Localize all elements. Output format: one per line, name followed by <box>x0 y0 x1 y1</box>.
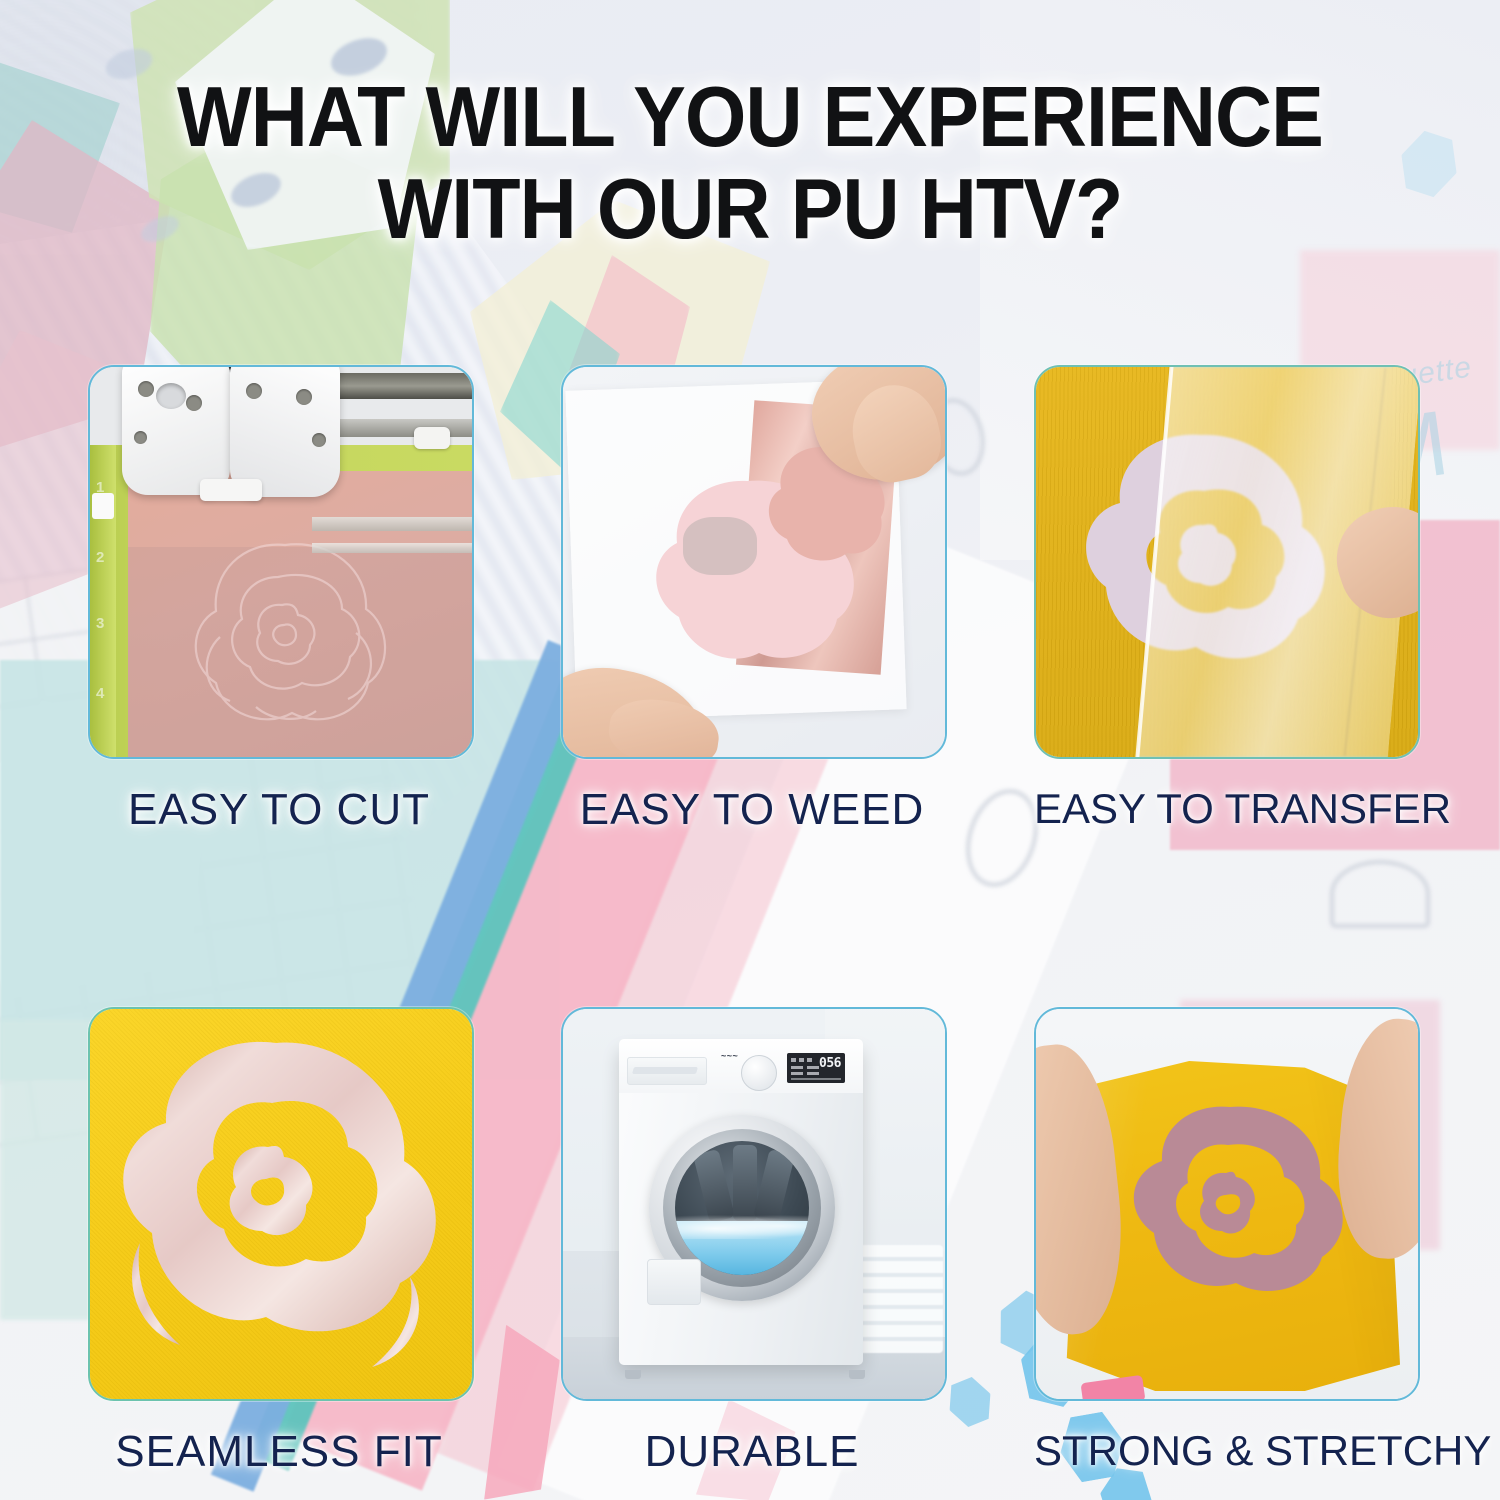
feature-grid: 1 2 3 4 <box>88 365 1416 1477</box>
program-dial[interactable] <box>741 1055 777 1091</box>
mat-ruler-mark-2: 2 <box>96 549 104 566</box>
tile-image-easy-to-transfer[interactable] <box>1034 365 1420 759</box>
tile-image-strong-and-stretchy[interactable] <box>1034 1007 1420 1401</box>
carriage-screw <box>186 395 202 411</box>
feature-row-top: 1 2 3 4 <box>88 365 1416 835</box>
machine-rail-4 <box>312 543 472 553</box>
folded-towels <box>851 1245 943 1353</box>
tile-image-easy-to-cut[interactable]: 1 2 3 4 <box>88 365 474 759</box>
caption-strong-and-stretchy: STRONG & STRETCHY <box>1034 1427 1416 1475</box>
infographic-root: silhouette AM WHAT WILL YOU EXPERIENCE W… <box>0 0 1500 1500</box>
carriage-screw <box>138 381 154 397</box>
drum-fin <box>693 1149 735 1223</box>
feature-cell-easy-to-transfer: EASY TO TRANSFER <box>1034 365 1416 835</box>
feature-row-bottom: SEAMLESS FIT ~~~ <box>88 1007 1416 1477</box>
caption-seamless-fit: SEAMLESS FIT <box>88 1427 470 1477</box>
water-foam <box>675 1213 809 1239</box>
blade-holder-socket <box>156 383 186 409</box>
mat-ruler-mark-3: 3 <box>96 615 104 632</box>
caption-durable: DURABLE <box>561 1427 943 1477</box>
carriage-screw <box>134 431 147 444</box>
feature-cell-seamless-fit: SEAMLESS FIT <box>88 1007 470 1477</box>
brand-logo: ~~~ <box>721 1051 738 1061</box>
weeded-gap-shadow <box>683 517 757 575</box>
caption-easy-to-weed: EASY TO WEED <box>561 785 943 835</box>
feature-cell-easy-to-cut: 1 2 3 4 <box>88 365 470 835</box>
carriage-tab <box>200 479 262 501</box>
stretched-rose-design <box>1114 1101 1350 1301</box>
feature-cell-easy-to-weed: EASY TO WEED <box>561 365 943 835</box>
machine-roller-knob <box>414 427 450 449</box>
feature-cell-durable: ~~~ 056 <box>561 1007 943 1477</box>
machine-foot <box>849 1370 865 1379</box>
cutter-carriage-right <box>230 365 340 497</box>
page-title: WHAT WILL YOU EXPERIENCE WITH OUR PU HTV… <box>53 72 1448 256</box>
filter-access-panel <box>647 1259 701 1305</box>
mat-clip <box>92 493 114 519</box>
carriage-screw <box>246 383 262 399</box>
door-glass <box>675 1141 809 1275</box>
feature-cell-strong-and-stretchy: STRONG & STRETCHY <box>1034 1007 1416 1477</box>
tile-image-seamless-fit[interactable] <box>88 1007 474 1401</box>
caption-easy-to-transfer: EASY TO TRANSFER <box>1034 785 1416 833</box>
drum-fin <box>733 1145 757 1221</box>
satin-rose-closeup <box>100 1027 462 1385</box>
machine-rail-3 <box>312 517 472 531</box>
rose-cut-lines <box>160 507 410 737</box>
tile-image-easy-to-weed[interactable] <box>561 365 947 759</box>
tile-image-durable[interactable]: ~~~ 056 <box>561 1007 947 1401</box>
carriage-screw <box>296 389 312 405</box>
washer-display-value: 056 <box>819 1056 841 1071</box>
drum-fin <box>753 1149 795 1223</box>
machine-foot <box>625 1370 641 1379</box>
mat-ruler-mark-4: 4 <box>96 685 104 702</box>
carriage-screw <box>312 433 326 447</box>
display-panel: 056 <box>787 1053 845 1083</box>
caption-easy-to-cut: EASY TO CUT <box>88 785 470 835</box>
drawer-handle <box>632 1067 698 1074</box>
